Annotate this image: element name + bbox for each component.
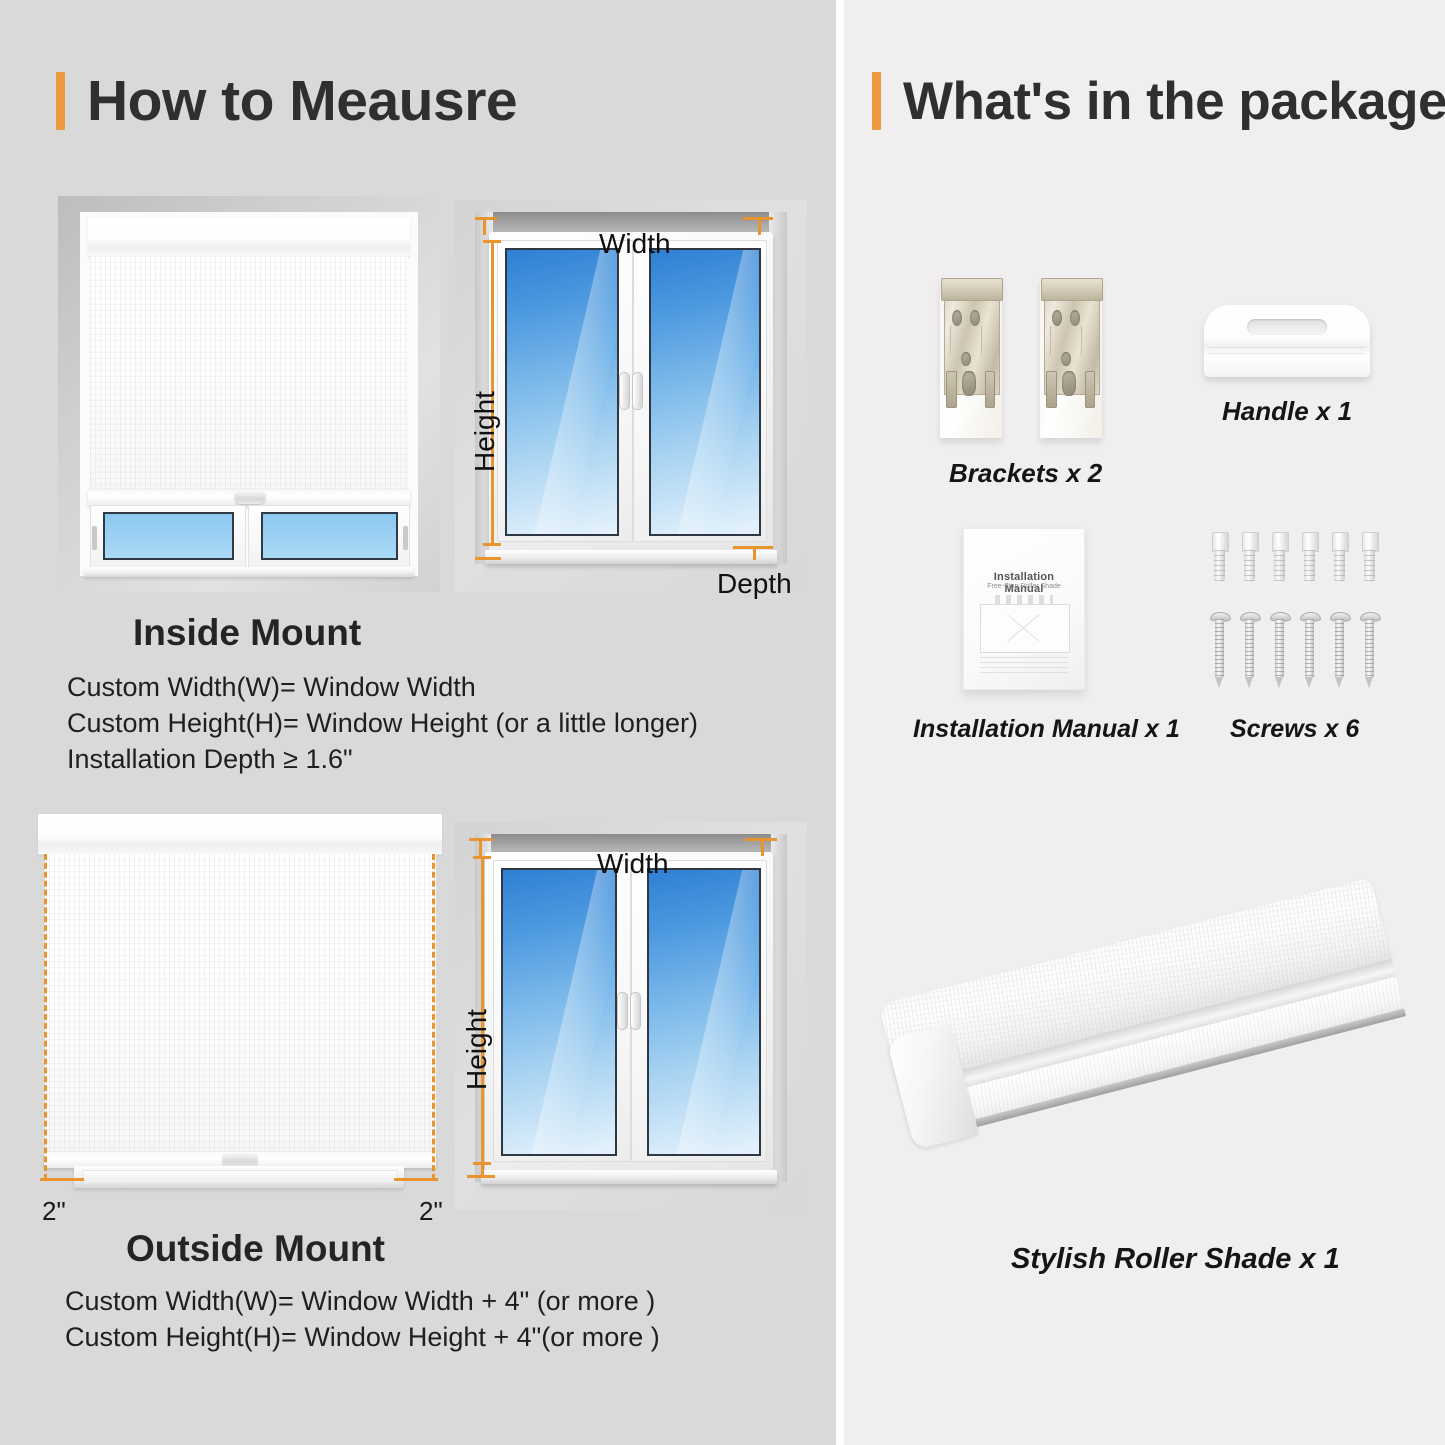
outside-mount-text: Custom Width(W)= Window Width + 4" (or m… (65, 1284, 660, 1356)
width-label: Width (597, 848, 669, 880)
infographic-page: How to Meausre What's in the package (0, 0, 1445, 1445)
how-to-measure-heading: How to Meausre (56, 72, 517, 130)
manual-cover-subtitle: Free-Stop Roller Shade (976, 583, 1072, 590)
bracket-icon (1040, 278, 1102, 438)
depth-label: Depth (717, 568, 792, 600)
manual-label: Installation Manual x 1 (913, 715, 1180, 744)
outside-mount-line-2: Custom Height(H)= Window Height + 4"(or … (65, 1320, 660, 1356)
manual-icon: Installation Manual Free-Stop Roller Sha… (963, 528, 1085, 690)
accent-bar-icon (872, 72, 881, 130)
inside-mount-line-3: Installation Depth ≥ 1.6" (67, 742, 698, 778)
outside-mount-overhang-right: 2" (419, 1196, 443, 1227)
inside-mount-line-2: Custom Height(H)= Window Height (or a li… (67, 706, 698, 742)
inside-mount-window-diagram: Width Height Depth (455, 200, 807, 592)
outside-mount-title: Outside Mount (126, 1228, 385, 1270)
inside-mount-line-1: Custom Width(W)= Window Width (67, 670, 698, 706)
handle-icon (1204, 305, 1370, 377)
how-to-measure-heading-text: How to Meausre (87, 73, 517, 130)
outside-mount-line-1: Custom Width(W)= Window Width + 4" (or m… (65, 1284, 660, 1320)
screws-label: Screws x 6 (1230, 715, 1359, 744)
outside-mount-shade-illustration (38, 810, 444, 1192)
accent-bar-icon (56, 72, 65, 130)
inside-mount-title: Inside Mount (133, 612, 361, 654)
handle-label: Handle x 1 (1222, 396, 1352, 427)
width-label: Width (599, 228, 671, 260)
outside-mount-window-diagram: Width Height (455, 822, 807, 1210)
package-heading: What's in the package (872, 72, 1445, 130)
roller-shade-label: Stylish Roller Shade x 1 (1011, 1243, 1340, 1276)
inside-mount-shade-illustration (58, 196, 440, 592)
inside-mount-text: Custom Width(W)= Window Width Custom Hei… (67, 670, 698, 778)
height-label: Height (461, 1009, 493, 1090)
height-label: Height (469, 391, 501, 472)
roller-shade-icon (916, 1000, 1424, 1150)
brackets-label: Brackets x 2 (949, 458, 1102, 489)
outside-mount-overhang-left: 2" (42, 1196, 66, 1227)
bracket-icon (940, 278, 1002, 438)
package-heading-text: What's in the package (903, 75, 1445, 128)
panel-divider (836, 0, 844, 1445)
